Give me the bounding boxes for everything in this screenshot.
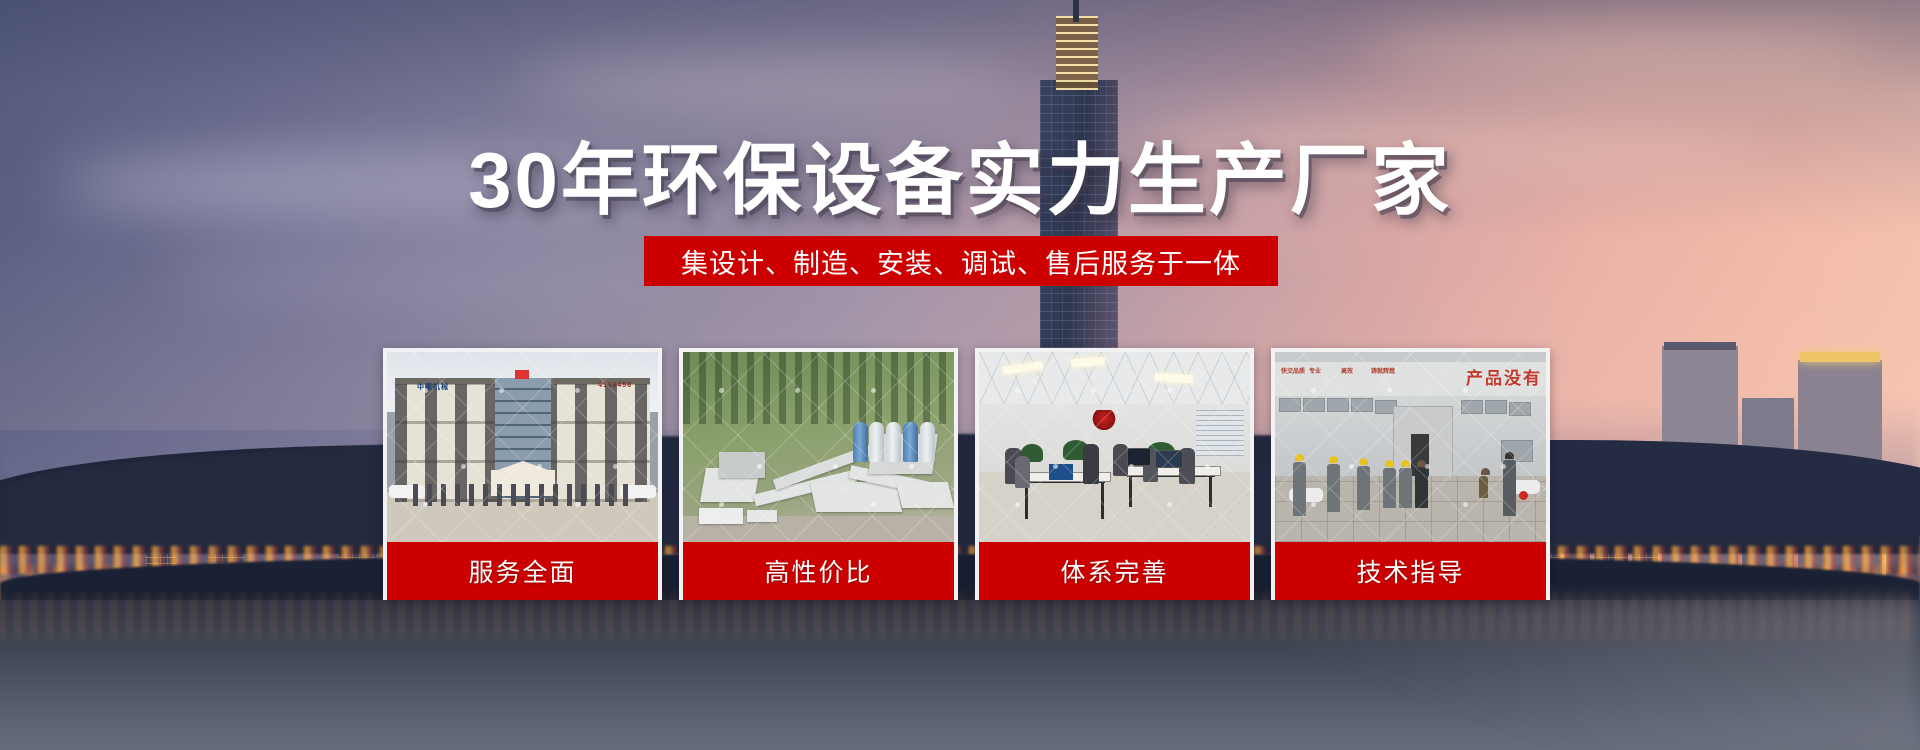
office-building-with-staff-photo: 中基机械 4113456 bbox=[387, 352, 658, 542]
feature-card[interactable]: 中基机械 4113456 服务全面 bbox=[383, 348, 662, 600]
factory-wall-small-text: 高效 bbox=[1341, 368, 1353, 376]
zifeng-tower-mast bbox=[1075, 0, 1078, 5]
cloud-band bbox=[520, 60, 1020, 106]
hotel-rooftop-sign bbox=[1664, 342, 1736, 350]
company-sign-text: 中基机械 bbox=[417, 382, 449, 392]
factory-wall-slogan: 产品没有 bbox=[1466, 364, 1542, 389]
aerial-industrial-plant-photo bbox=[683, 352, 954, 542]
feature-card-label: 体系完善 bbox=[979, 542, 1250, 600]
feature-card[interactable]: 高性价比 bbox=[679, 348, 958, 600]
factory-wall-small-text: 专业 bbox=[1309, 368, 1321, 376]
feature-card[interactable]: 产品没有 快交品质 专业 高效 铸就辉煌 bbox=[1271, 348, 1550, 600]
page-title: 30年环保设备实力生产厂家 bbox=[0, 118, 1920, 230]
factory-workers-training-photo: 产品没有 快交品质 专业 高效 铸就辉煌 bbox=[1275, 352, 1546, 542]
zifeng-tower-crown bbox=[1056, 16, 1098, 90]
subtitle-banner: 集设计、制造、安装、调试、售后服务于一体 bbox=[644, 236, 1278, 286]
feature-card[interactable]: 体系完善 bbox=[975, 348, 1254, 600]
factory-wall-small-text: 铸就辉煌 bbox=[1371, 368, 1395, 376]
feature-card-label: 服务全面 bbox=[387, 542, 658, 600]
wall-logo-icon bbox=[1091, 410, 1117, 432]
feature-card-label: 技术指导 bbox=[1275, 542, 1546, 600]
factory-wall-small-text: 快交品质 bbox=[1281, 368, 1305, 376]
feature-card-row: 中基机械 4113456 服务全面 bbox=[383, 348, 1535, 600]
cloud-band bbox=[1360, 30, 1880, 74]
company-phone-text: 4113456 bbox=[598, 382, 632, 389]
hero-banner: 30年环保设备实力生产厂家 集设计、制造、安装、调试、售后服务于一体 中基机械 … bbox=[0, 0, 1920, 750]
water-sheen bbox=[1160, 600, 1920, 750]
office-interior-staff-photo bbox=[979, 352, 1250, 542]
hotel-rooftop-sign bbox=[1800, 352, 1880, 362]
subtitle-text: 集设计、制造、安装、调试、售后服务于一体 bbox=[681, 242, 1241, 281]
feature-card-label: 高性价比 bbox=[683, 542, 954, 600]
